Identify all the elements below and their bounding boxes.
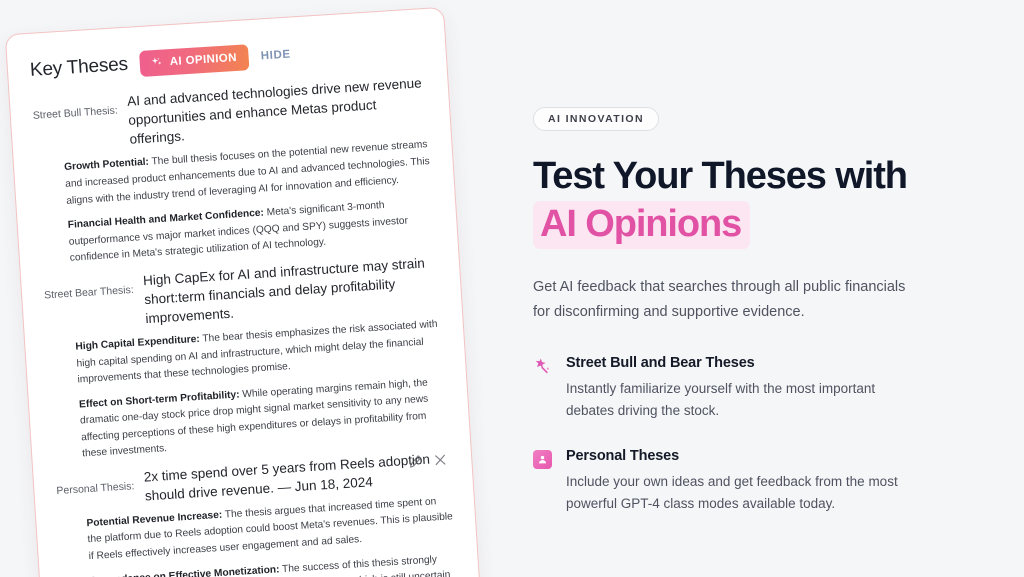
close-icon[interactable] bbox=[433, 452, 448, 467]
ai-opinion-badge-label: AI OPINION bbox=[169, 52, 237, 68]
hide-button[interactable]: HIDE bbox=[260, 49, 291, 63]
eyebrow-badge: AI INNOVATION bbox=[533, 107, 659, 131]
thesis-label: Personal Thesis: bbox=[55, 468, 135, 499]
feature-description: Instantly familiarize yourself with the … bbox=[566, 378, 901, 422]
sparkle-icon bbox=[149, 56, 164, 71]
thesis-block-street-bull: Street Bull Thesis: AI and advanced tech… bbox=[32, 73, 436, 269]
thesis-bullets: Growth Potential: The bull thesis focuse… bbox=[36, 137, 436, 269]
thesis-summary: AI and advanced technologies drive new r… bbox=[127, 73, 429, 149]
thesis-bullets: High Capital Expenditure: The bear thesi… bbox=[47, 317, 448, 465]
hero-title-line-2: AI Opinions bbox=[533, 201, 1003, 250]
feature-title: Personal Theses bbox=[566, 448, 901, 464]
hero-subtitle: Get AI feedback that searches through al… bbox=[533, 275, 913, 325]
thesis-actions bbox=[408, 452, 448, 468]
pencil-icon[interactable] bbox=[408, 454, 423, 469]
thesis-label: Street Bear Thesis: bbox=[43, 271, 134, 303]
feature-item-street-theses: Street Bull and Bear Theses Instantly fa… bbox=[533, 355, 1003, 422]
thesis-block-street-bear: Street Bear Thesis: High CapEx for AI an… bbox=[43, 252, 448, 464]
hero-title: Test Your Theses with AI Opinions bbox=[533, 155, 1003, 249]
thesis-label: Street Bull Thesis: bbox=[32, 93, 118, 125]
hero-title-line-1: Test Your Theses with bbox=[533, 155, 1003, 198]
hero-title-highlight: AI Opinions bbox=[533, 201, 750, 250]
bullet-item: Effect on Short-term Profitability: Whil… bbox=[79, 374, 448, 463]
thesis-block-personal: Personal Thesis: 2x time spend over 5 ye… bbox=[55, 448, 458, 577]
bullet-text: While operating margins remain high, the… bbox=[80, 377, 429, 459]
bullet-heading: High Capital Expenditure: bbox=[75, 334, 200, 353]
page-title: Key Theses bbox=[29, 54, 128, 82]
thesis-card-stage: Key Theses AI OPINION HIDE Street Bull T… bbox=[0, 0, 500, 577]
bullet-heading: Growth Potential: bbox=[64, 157, 149, 173]
feature-title: Street Bull and Bear Theses bbox=[566, 355, 901, 371]
key-theses-card: Key Theses AI OPINION HIDE Street Bull T… bbox=[5, 7, 484, 577]
person-icon bbox=[533, 450, 552, 469]
person-icon-tile bbox=[533, 450, 552, 469]
feature-description: Include your own ideas and get feedback … bbox=[566, 471, 901, 515]
feature-text: Street Bull and Bear Theses Instantly fa… bbox=[566, 355, 901, 422]
ai-opinion-badge[interactable]: AI OPINION bbox=[139, 44, 250, 77]
feature-item-personal-theses: Personal Theses Include your own ideas a… bbox=[533, 448, 1003, 515]
marketing-panel: AI INNOVATION Test Your Theses with AI O… bbox=[533, 0, 1003, 577]
feature-list: Street Bull and Bear Theses Instantly fa… bbox=[533, 355, 1003, 515]
thesis-summary: High CapEx for AI and infrastructure may… bbox=[143, 252, 440, 328]
feature-text: Personal Theses Include your own ideas a… bbox=[566, 448, 901, 515]
bullet-text: The thesis argues that increased time sp… bbox=[87, 496, 453, 562]
bullet-heading: Dependence on Effective Monetization: bbox=[90, 564, 280, 577]
magic-wand-sparkle-icon bbox=[533, 357, 552, 376]
